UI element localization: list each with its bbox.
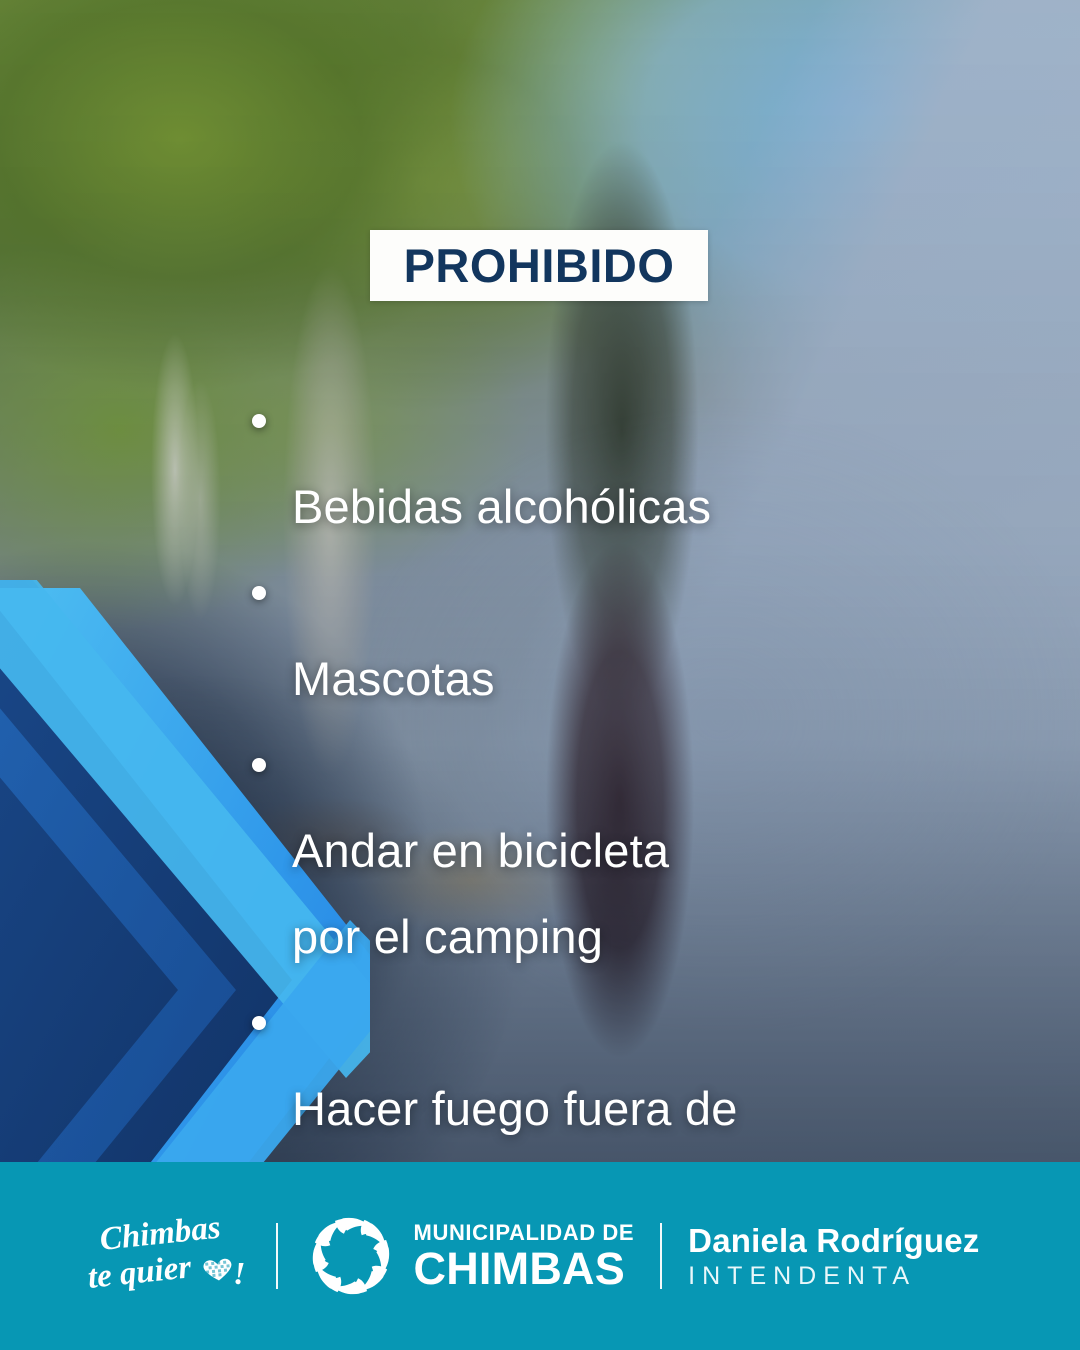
brand-line-2: CHIMBAS: [414, 1246, 635, 1291]
official-block: Daniela Rodríguez INTENDENTA: [688, 1224, 979, 1289]
list-item-text: Bebidas alcohólicas: [292, 480, 711, 533]
chimbas-te-quiero-logo: Chimbas te quier: [85, 1210, 250, 1302]
official-name: Daniela Rodríguez: [688, 1224, 979, 1257]
official-role: INTENDENTA: [688, 1264, 979, 1289]
bullet-icon: [252, 414, 266, 428]
bullet-icon: [252, 586, 266, 600]
footer-divider-2: [660, 1223, 662, 1289]
footer-divider-1: [276, 1223, 278, 1289]
footer-content: Chimbas te quier: [85, 1209, 980, 1303]
list-item-text: Andar en bicicleta por el camping: [292, 824, 669, 963]
poster-root: PROHIBIDO Bebidas alcohólicas Mascotas A…: [0, 0, 1080, 1350]
list-item: Mascotas: [240, 550, 940, 722]
list-item: Bebidas alcohólicas: [240, 378, 940, 550]
municipality-brand-text: MUNICIPALIDAD DE CHIMBAS: [414, 1222, 635, 1291]
list-item-text: Mascotas: [292, 652, 495, 705]
list-item: Andar en bicicleta por el camping: [240, 722, 940, 980]
chimbas-pinwheel-logo-icon: [304, 1209, 398, 1303]
bullet-icon: [252, 1016, 266, 1030]
municipality-brand: MUNICIPALIDAD DE CHIMBAS: [304, 1209, 635, 1303]
page-title: PROHIBIDO: [370, 230, 708, 301]
svg-text:!: !: [233, 1255, 245, 1291]
svg-text:Chimbas: Chimbas: [98, 1210, 222, 1258]
brand-line-1: MUNICIPALIDAD DE: [414, 1222, 635, 1244]
page-title-text: PROHIBIDO: [404, 242, 675, 289]
bullet-icon: [252, 758, 266, 772]
footer-bar: Chimbas te quier: [0, 1162, 1080, 1350]
